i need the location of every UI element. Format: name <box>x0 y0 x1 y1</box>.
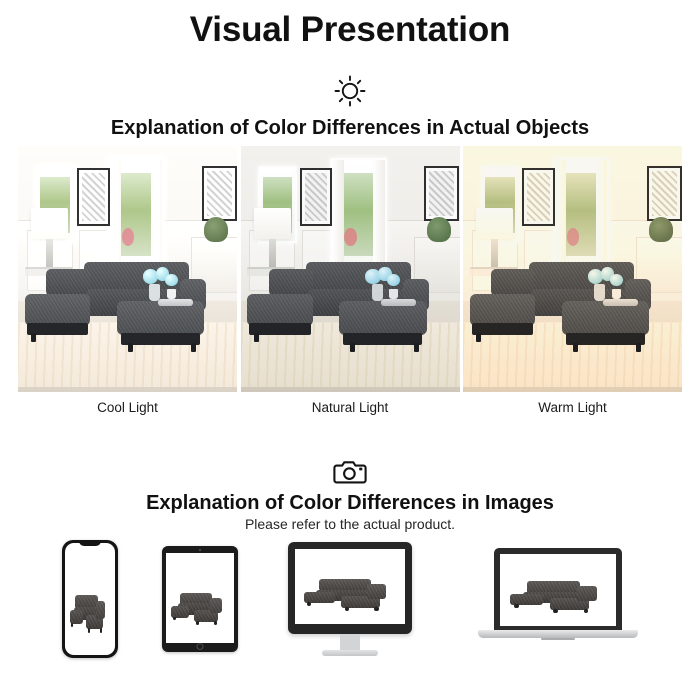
photo-cool-light <box>18 146 237 392</box>
photo-warm-light <box>463 146 682 392</box>
device-row <box>0 534 700 684</box>
caption-warm-light: Warm Light <box>463 400 682 420</box>
sofa-thumbnail-monitor <box>295 549 405 624</box>
smartphone-screen <box>65 543 115 655</box>
room-scene-warm <box>463 146 682 392</box>
sun-icon <box>333 74 367 108</box>
section-heading-actual-objects: Explanation of Color Differences in Actu… <box>0 117 700 140</box>
sofa-thumbnail-smartphone <box>65 543 115 655</box>
laptop-base <box>478 630 638 638</box>
photo-natural-light <box>241 146 460 392</box>
tablet-home-button[interactable] <box>197 643 204 650</box>
tablet-body <box>162 546 238 652</box>
section-heading-images: Explanation of Color Differences in Imag… <box>0 492 700 515</box>
visual-presentation-page: Visual Presentation Explanation of Color… <box>0 0 700 700</box>
lighting-photo-row <box>18 146 682 392</box>
smartphone-body <box>62 540 118 658</box>
section-subheading-refer-actual-product: Please refer to the actual product. <box>0 516 700 532</box>
laptop-screen <box>500 554 616 626</box>
room-scene-natural <box>241 146 460 392</box>
sofa-thumbnail-tablet <box>166 553 234 643</box>
monitor-screen <box>295 549 405 624</box>
monitor-stand-base <box>322 650 378 656</box>
sofa-thumbnail-laptop <box>500 554 616 626</box>
monitor-body <box>288 542 412 634</box>
lighting-caption-row: Cool Light Natural Light Warm Light <box>18 400 682 420</box>
camera-icon-container <box>0 458 700 491</box>
room-scene-cool <box>18 146 237 392</box>
laptop-lid <box>494 548 622 630</box>
caption-cool-light: Cool Light <box>18 400 237 420</box>
caption-natural-light: Natural Light <box>241 400 460 420</box>
smartphone-notch <box>79 540 101 546</box>
tablet-camera-icon <box>199 549 201 551</box>
page-title: Visual Presentation <box>0 10 700 50</box>
monitor-stand-neck <box>340 634 360 651</box>
sun-icon-container <box>0 74 700 113</box>
camera-icon <box>333 458 367 486</box>
laptop-trackpad-lip <box>541 638 575 640</box>
tablet-screen <box>166 553 234 643</box>
